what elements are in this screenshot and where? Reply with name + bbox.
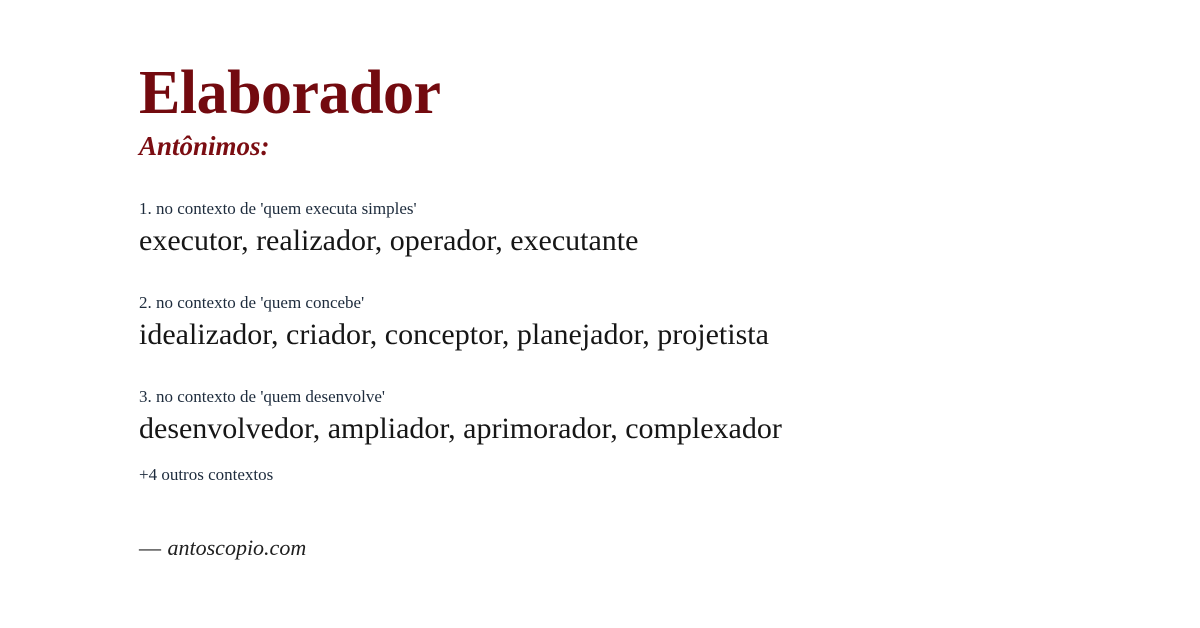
sense-words: desenvolvedor, ampliador, aprimorador, c…: [139, 410, 1160, 448]
sense-context-label: 2. no contexto de 'quem concebe': [139, 292, 1160, 313]
page-title: Elaborador: [139, 62, 441, 124]
sense-context-label: 1. no contexto de 'quem executa simples': [139, 198, 1160, 219]
attribution-dash-icon: —: [139, 535, 162, 560]
attribution-source: antoscopio.com: [168, 535, 307, 560]
sense-item: 3. no contexto de 'quem desenvolve' dese…: [139, 386, 1160, 448]
sense-context-label: 3. no contexto de 'quem desenvolve': [139, 386, 1160, 407]
section-label-antonyms: Antônimos:: [139, 133, 270, 160]
sense-words: idealizador, criador, conceptor, planeja…: [139, 316, 1160, 354]
antonyms-card: Elaborador Antônimos: 1. no contexto de …: [0, 0, 1200, 628]
sense-item: 1. no contexto de 'quem executa simples'…: [139, 198, 1160, 260]
sense-words: executor, realizador, operador, executan…: [139, 222, 1160, 260]
more-contexts-note: +4 outros contextos: [139, 464, 273, 485]
attribution: — antoscopio.com: [139, 534, 306, 562]
sense-list: 1. no contexto de 'quem executa simples'…: [139, 198, 1160, 447]
sense-item: 2. no contexto de 'quem concebe' idealiz…: [139, 292, 1160, 354]
